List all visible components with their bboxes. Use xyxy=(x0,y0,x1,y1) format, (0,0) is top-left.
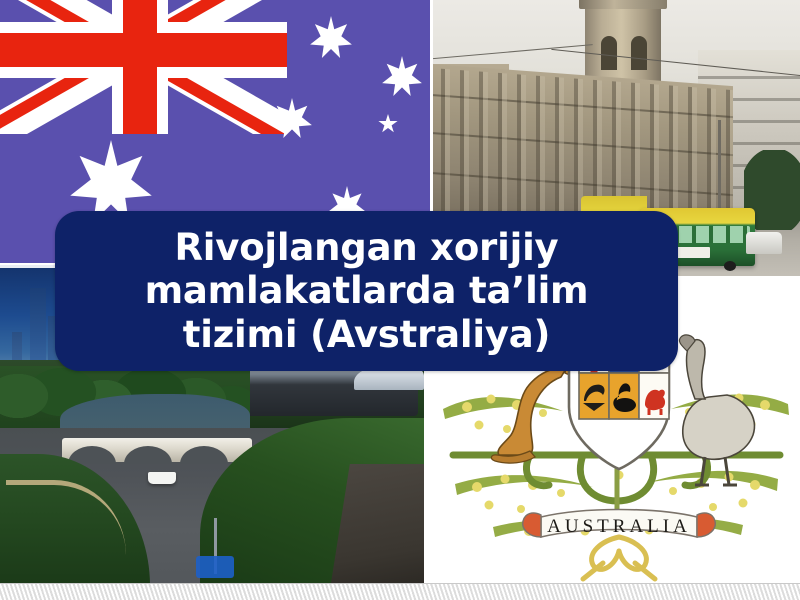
australia-scroll: AUSTRALIA xyxy=(523,510,716,538)
tram-wheel xyxy=(724,261,736,271)
title-line-2: mamlakatlarda ta’lim xyxy=(145,269,589,312)
title-line-3: tizimi (Avstraliya) xyxy=(183,313,551,356)
stadium xyxy=(223,364,418,416)
slide-title-plate: Rivojlangan xorijiy mamlakatlarda ta’lim… xyxy=(55,211,678,371)
scroll-text: AUSTRALIA xyxy=(547,516,691,537)
presentation-slide: The Riv xyxy=(0,0,800,600)
window-band xyxy=(698,76,800,79)
page-title: Rivojlangan xorijiy mamlakatlarda ta’lim… xyxy=(55,226,678,356)
st-george-cross-red-horizontal xyxy=(0,33,287,67)
white-van xyxy=(746,232,782,254)
scroll-roll-right xyxy=(697,513,715,537)
st-george-cross-red-vertical xyxy=(123,0,157,134)
crux-alpha-star-icon xyxy=(310,16,352,58)
crux-beta-star-icon xyxy=(382,56,422,96)
shield-quarter-sa xyxy=(579,373,609,419)
shield-quarter-wa xyxy=(609,373,639,419)
emu-supporter xyxy=(679,335,754,485)
river-boat xyxy=(148,472,176,484)
union-jack-canton xyxy=(0,0,287,134)
commonwealth-star-icon xyxy=(70,140,152,222)
bridge-arch xyxy=(180,446,228,464)
ribbon-bow xyxy=(583,537,655,579)
bridge-arch xyxy=(124,446,172,464)
blue-tarp xyxy=(196,556,234,578)
crux-epsilon-star-icon xyxy=(378,114,398,134)
bridge xyxy=(62,438,252,462)
bottom-texture-band xyxy=(0,583,800,600)
title-line-1: Rivojlangan xorijiy xyxy=(175,226,559,269)
